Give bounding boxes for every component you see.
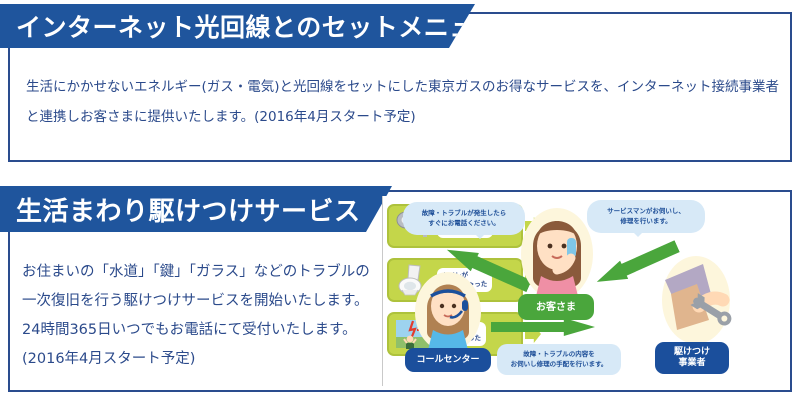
callcenter-operator-illustration xyxy=(405,270,491,358)
service-flow-diagram: カギを なくしちゃった トイレが 詰まっちゃった xyxy=(382,196,782,386)
service-body-line-3: 24時間365日いつでもお電話にて受付いたします。 xyxy=(22,316,370,345)
label-customer: お客さま xyxy=(518,294,594,320)
service-banner: 生活まわり駆けつけサービス xyxy=(0,186,392,232)
internet-body-line-2: と連携しお客さまに提供いたします。(2016年4月スタート予定) xyxy=(26,102,779,132)
service-provider-illustration xyxy=(651,254,741,350)
service-body-line-2: 一次復旧を行う駆けつけサービスを開始いたします。 xyxy=(22,287,370,316)
internet-body-line-1: 生活にかかせないエネルギー(ガス・電気)と光回線をセットにした東京ガスのお得なサ… xyxy=(26,72,779,102)
bubble-call-instruction: 故障・トラブルが発生したら すぐにお電話ください。 xyxy=(403,202,525,235)
label-callcenter: コールセンター xyxy=(405,348,491,372)
slide-root: インターネット光回線とのセットメニュー 生活にかかせないエネルギー(ガス・電気)… xyxy=(0,0,800,406)
bubble-repair-visit: サービスマンがお伺いし、 修理を行います。 xyxy=(587,200,705,233)
service-body-line-4: (2016年4月スタート予定) xyxy=(22,345,370,374)
service-body-line-1: お住まいの「水道」「鍵」「ガラス」などのトラブルの xyxy=(22,258,370,287)
bubble-dispatch-arrangement: 故障・トラブルの内容を お伺いし修理の手配を行います。 xyxy=(497,344,621,375)
service-body-text: お住まいの「水道」「鍵」「ガラス」などのトラブルの 一次復旧を行う駆けつけサービ… xyxy=(22,258,370,374)
label-service-provider: 駆けつけ 事業者 xyxy=(655,342,729,374)
internet-banner: インターネット光回線とのセットメニュー xyxy=(0,4,475,48)
service-banner-title: 生活まわり駆けつけサービス xyxy=(16,191,361,228)
internet-body-text: 生活にかかせないエネルギー(ガス・電気)と光回線をセットにした東京ガスのお得なサ… xyxy=(26,72,779,132)
internet-banner-title: インターネット光回線とのセットメニュー xyxy=(16,8,500,44)
